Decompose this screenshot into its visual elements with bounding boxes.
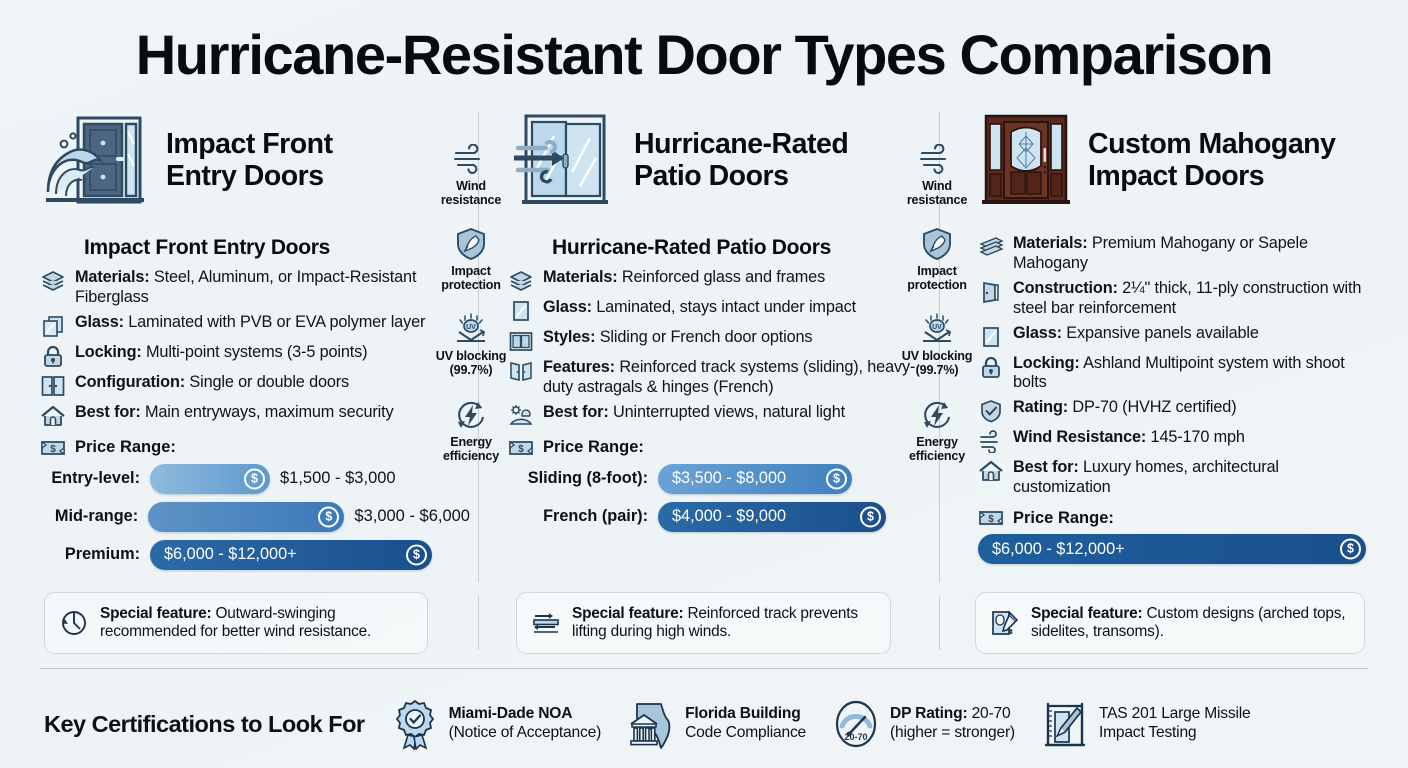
feature-divider-2 [939, 596, 940, 650]
uv-icon: UV [896, 312, 978, 346]
spec-text: Glass: Laminated with PVB or EVA polymer… [75, 313, 425, 333]
glass-panes-icon [40, 314, 66, 338]
spec-item: Configuration: Single or double doors [40, 373, 470, 398]
double-door-icon [40, 374, 66, 398]
track-arrows-icon [531, 609, 561, 637]
badge-label: Impactprotection [430, 264, 512, 292]
price-row-value: $3,000 - $6,000 [354, 507, 470, 526]
price-row-label: Entry-level: [40, 469, 150, 488]
spec-item: Materials: Steel, Aluminum, or Impact-Re… [40, 268, 470, 308]
spec-text: Construction: 2¼" thick, 11-ply construc… [1013, 279, 1378, 319]
columns-container: Impact FrontEntry Doors Impact Front Ent… [0, 108, 1408, 578]
svg-text:$: $ [518, 444, 524, 455]
badge-label: Windresistance [896, 179, 978, 207]
door-open-icon [978, 280, 1004, 304]
price-bar: $6,000 - $12,000+ $ [978, 534, 1366, 564]
spec-list: Materials: Premium Mahogany or Sapele Ma… [978, 234, 1378, 498]
price-bar: $4,000 - $9,000 $ [658, 502, 886, 532]
wind-icon [978, 429, 1004, 453]
price-row: $6,000 - $12,000+ $ [978, 534, 1378, 564]
badge-label: Energyefficiency [430, 435, 512, 463]
badge-label: UV blocking(99.7%) [896, 349, 978, 377]
price-row: Mid-range: $ $3,000 - $6,000 [40, 502, 470, 532]
infographic-page: Hurricane-Resistant Door Types Compariso… [0, 0, 1408, 768]
spec-text: Glass: Expansive panels available [1013, 324, 1259, 344]
column-hurricane-rated-patio-doors: Hurricane-RatedPatio Doors Hurricane-Rat… [508, 108, 928, 540]
custom-design-icon [990, 609, 1020, 637]
sliding-patio-door-icon [508, 110, 620, 210]
badge-energy-efficiency: Energyefficiency [896, 398, 978, 463]
dollar-coin-icon: $ [1340, 539, 1361, 560]
badge-rail-1: Windresistance Impactprotection UV UV bl… [430, 142, 512, 483]
shield-impact-icon [896, 227, 978, 261]
svg-text:$: $ [988, 514, 994, 525]
spec-text: Styles: Sliding or French door options [543, 328, 812, 348]
price-bar: $3,500 - $8,000 $ [658, 464, 852, 494]
column-header: Custom MahoganyImpact Doors [978, 108, 1378, 212]
svg-text:UV: UV [466, 324, 476, 331]
spec-text: Materials: Steel, Aluminum, or Impact-Re… [75, 268, 470, 308]
spec-item: Rating: DP-70 (HVHZ certified) [978, 398, 1378, 423]
dollar-coin-icon: $ [406, 544, 427, 565]
wind-icon [896, 142, 978, 176]
wood-plank-icon [978, 235, 1004, 259]
spec-text: Materials: Reinforced glass and frames [543, 268, 825, 288]
badge-wind-resistance: Windresistance [430, 142, 512, 207]
cert-dp-rating: 20-70 DP Rating: 20-70(higher = stronger… [832, 698, 1015, 750]
price-row-value: $4,000 - $9,000 [658, 507, 786, 526]
cert-miami-dade-noa: Miami-Dade NOA(Notice of Acceptance) [391, 698, 601, 750]
spec-text: Best for: Luxury homes, architectural cu… [1013, 458, 1378, 498]
spec-item: Features: Reinforced track systems (slid… [508, 358, 928, 398]
cert-tas-201-missile-test: TAS 201 Large MissileImpact Testing [1041, 698, 1251, 750]
spec-text: Rating: DP-70 (HVHZ certified) [1013, 398, 1236, 418]
spec-text: Features: Reinforced track systems (slid… [543, 358, 928, 398]
spec-list: Materials: Reinforced glass and frames G… [508, 268, 928, 428]
price-bar: $6,000 - $12,000+ $ [150, 540, 432, 570]
cert-text: Florida BuildingCode Compliance [685, 705, 806, 742]
price-range-text: Price Range: [543, 438, 644, 457]
section-divider [40, 668, 1368, 669]
price-row-label: Mid-range: [40, 507, 148, 526]
dollar-coin-icon: $ [244, 468, 265, 489]
column-title: Hurricane-RatedPatio Doors [634, 128, 848, 193]
cert-florida-building-code: Florida BuildingCode Compliance [627, 698, 806, 750]
spec-item: Best for: Uninterrupted views, natural l… [508, 403, 928, 428]
price-rows: Sliding (8-foot): $3,500 - $8,000 $ Fren… [508, 464, 928, 532]
badge-label: UV blocking(99.7%) [430, 349, 512, 377]
dollar-coin-icon: $ [318, 506, 339, 527]
spec-item: Styles: Sliding or French door options [508, 328, 928, 353]
badge-impact-protection: Impactprotection [430, 227, 512, 292]
svg-text:20-70: 20-70 [845, 732, 868, 742]
svg-text:UV: UV [932, 324, 942, 331]
badge-wind-resistance: Windresistance [896, 142, 978, 207]
page-title: Hurricane-Resistant Door Types Compariso… [0, 26, 1408, 85]
price-rows: Entry-level: $ $1,500 - $3,000 Mid-range… [40, 464, 470, 570]
home-icon [40, 404, 66, 428]
column-header: Hurricane-RatedPatio Doors [508, 108, 928, 212]
banknote-icon: $ [978, 507, 1004, 529]
price-row-label: Premium: [40, 545, 150, 564]
special-features-row: Special feature: Outward-swinging recomm… [0, 592, 1408, 656]
feature-text: Special feature: Outward-swinging recomm… [100, 605, 413, 642]
wave-door-icon [40, 110, 152, 210]
swing-arrow-icon [59, 609, 89, 637]
badge-label: Impactprotection [896, 264, 978, 292]
price-row-value: $6,000 - $12,000+ [978, 540, 1125, 559]
cert-text: DP Rating: 20-70(higher = stronger) [890, 705, 1015, 742]
spec-item: Materials: Premium Mahogany or Sapele Ma… [978, 234, 1378, 274]
spec-item: Materials: Reinforced glass and frames [508, 268, 928, 293]
price-row-label: French (pair): [508, 507, 658, 526]
price-row-label: Sliding (8-foot): [508, 469, 658, 488]
home-icon [978, 459, 1004, 483]
column-subheader: Hurricane-Rated Patio Doors [552, 236, 928, 260]
price-row: Premium: $6,000 - $12,000+ $ [40, 540, 470, 570]
lock-icon [40, 344, 66, 368]
price-bar: $ [150, 464, 270, 494]
cert-text: TAS 201 Large MissileImpact Testing [1099, 705, 1251, 742]
mahogany-door-icon [978, 110, 1074, 210]
price-range-text: Price Range: [1013, 509, 1114, 528]
spec-text: Locking: Multi-point systems (3-5 points… [75, 343, 367, 363]
certifications-title: Key Certifications to Look For [44, 711, 365, 738]
column-title: Custom MahoganyImpact Doors [1088, 128, 1335, 193]
special-feature-box-mahogany-doors: Special feature: Custom designs (arched … [975, 592, 1365, 654]
spec-item: Glass: Expansive panels available [978, 324, 1378, 349]
badge-uv-blocking: UV UV blocking(99.7%) [430, 312, 512, 377]
price-range-text: Price Range: [75, 438, 176, 457]
price-row-value: $6,000 - $12,000+ [150, 545, 297, 564]
price-bar: $ [148, 502, 344, 532]
special-feature-box-patio-doors: Special feature: Reinforced track preven… [516, 592, 891, 654]
badge-label: Energyefficiency [896, 435, 978, 463]
price-range-label: $ Price Range: [978, 507, 1378, 529]
shield-impact-icon [430, 227, 512, 261]
column-custom-mahogany-impact-doors: Custom MahoganyImpact Doors Materials: P… [978, 108, 1378, 572]
missile-test-icon [1041, 698, 1089, 750]
energy-icon [430, 398, 512, 432]
energy-icon [896, 398, 978, 432]
wind-icon [430, 142, 512, 176]
price-row-value: $3,500 - $8,000 [658, 469, 786, 488]
spec-item: Glass: Laminated with PVB or EVA polymer… [40, 313, 470, 338]
spec-text: Configuration: Single or double doors [75, 373, 349, 393]
badge-uv-blocking: UV UV blocking(99.7%) [896, 312, 978, 377]
spec-item: Glass: Laminated, stays intact under imp… [508, 298, 928, 323]
column-header: Impact FrontEntry Doors [40, 108, 470, 212]
spec-text: Materials: Premium Mahogany or Sapele Ma… [1013, 234, 1378, 274]
gauge-icon: 20-70 [832, 698, 880, 750]
badge-rail-2: Windresistance Impactprotection UV UV bl… [896, 142, 978, 483]
price-row: Sliding (8-foot): $3,500 - $8,000 $ [508, 464, 928, 494]
badge-label: Windresistance [430, 179, 512, 207]
feature-divider-1 [478, 596, 479, 650]
lock-icon [978, 355, 1004, 379]
feature-text: Special feature: Custom designs (arched … [1031, 605, 1350, 642]
spec-list: Materials: Steel, Aluminum, or Impact-Re… [40, 268, 470, 428]
price-row: French (pair): $4,000 - $9,000 $ [508, 502, 928, 532]
uv-icon: UV [430, 312, 512, 346]
column-title: Impact FrontEntry Doors [166, 128, 333, 193]
special-feature-box-entry-doors: Special feature: Outward-swinging recomm… [44, 592, 428, 654]
badge-energy-efficiency: Energyefficiency [430, 398, 512, 463]
spec-item: Wind Resistance: 145-170 mph [978, 428, 1378, 453]
florida-capitol-icon [627, 698, 675, 750]
price-rows: $6,000 - $12,000+ $ [978, 534, 1378, 564]
banknote-icon: $ [40, 437, 66, 459]
spec-text: Glass: Laminated, stays intact under imp… [543, 298, 856, 318]
spec-text: Locking: Ashland Multipoint system with … [1013, 354, 1378, 394]
certifications-bar: Key Certifications to Look For Miami-Dad… [0, 690, 1408, 758]
spec-item: Locking: Multi-point systems (3-5 points… [40, 343, 470, 368]
dollar-coin-icon: $ [826, 468, 847, 489]
rosette-check-icon [391, 698, 439, 750]
price-range-label: $ Price Range: [508, 437, 928, 459]
column-subheader: Impact Front Entry Doors [84, 236, 470, 260]
spec-item: Best for: Luxury homes, architectural cu… [978, 458, 1378, 498]
badge-impact-protection: Impactprotection [896, 227, 978, 292]
price-range-label: $ Price Range: [40, 437, 470, 459]
price-row: Entry-level: $ $1,500 - $3,000 [40, 464, 470, 494]
spec-text: Best for: Main entryways, maximum securi… [75, 403, 394, 423]
shield-check-icon [978, 399, 1004, 423]
spec-item: Construction: 2¼" thick, 11-ply construc… [978, 279, 1378, 319]
glass-pane-icon [978, 325, 1004, 349]
dollar-coin-icon: $ [860, 506, 881, 527]
svg-text:$: $ [50, 444, 56, 455]
price-row-value: $1,500 - $3,000 [280, 469, 396, 488]
cert-text: Miami-Dade NOA(Notice of Acceptance) [449, 705, 601, 742]
spec-text: Wind Resistance: 145-170 mph [1013, 428, 1245, 448]
layers-icon [40, 269, 66, 293]
spec-item: Best for: Main entryways, maximum securi… [40, 403, 470, 428]
spec-item: Locking: Ashland Multipoint system with … [978, 354, 1378, 394]
spec-text: Best for: Uninterrupted views, natural l… [543, 403, 845, 423]
column-impact-front-entry-doors: Impact FrontEntry Doors Impact Front Ent… [40, 108, 470, 578]
feature-text: Special feature: Reinforced track preven… [572, 605, 876, 642]
